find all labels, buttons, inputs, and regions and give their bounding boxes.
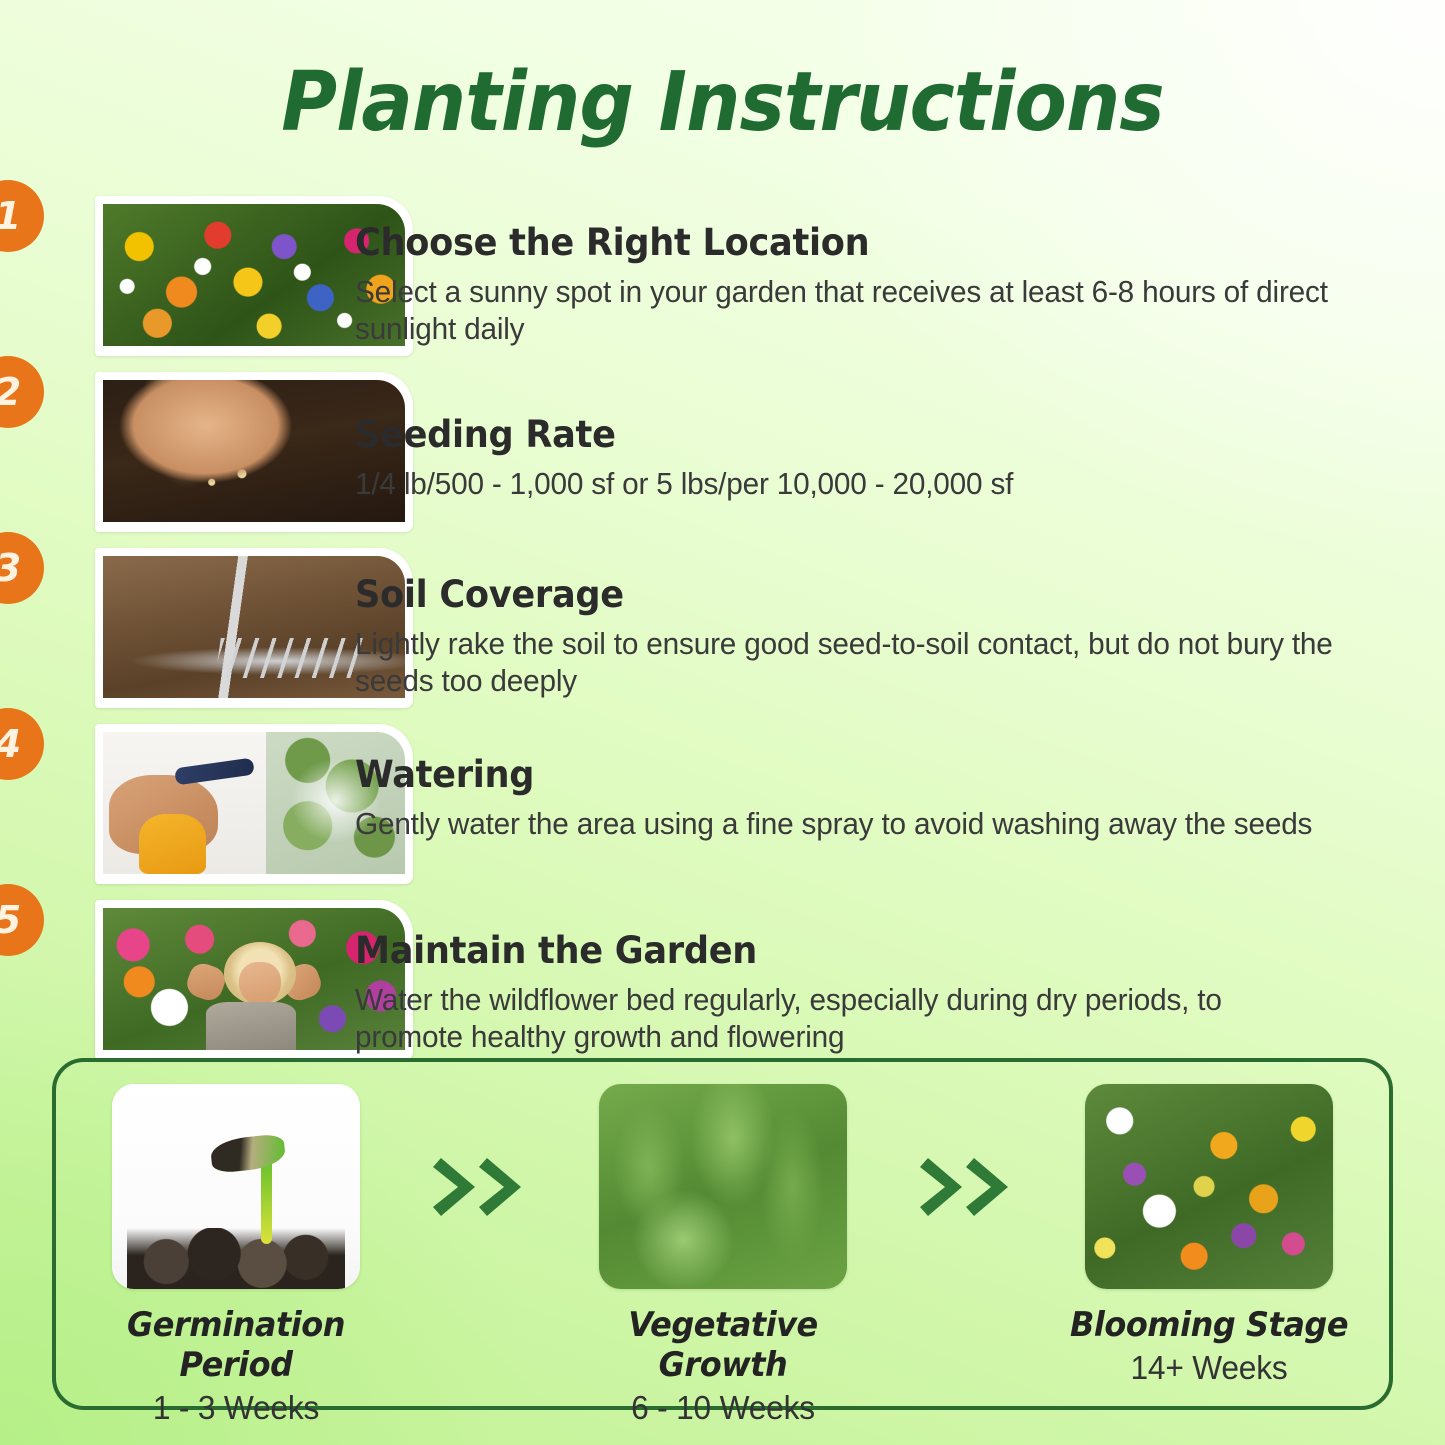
step-number-badge: 4 — [0, 708, 44, 780]
step-item: 5 Maintain the Garden Water the wildflow… — [0, 900, 1445, 1068]
step-description: Water the wildflower bed regularly, espe… — [355, 981, 1334, 1057]
step-thumbnail-wrap: 3 — [0, 548, 330, 708]
timeline-stage-value: 1 - 3 Weeks — [92, 1389, 380, 1427]
seedling-sprout-photo — [112, 1084, 360, 1289]
timeline-stage: Germination Period 1 - 3 Weeks — [86, 1084, 386, 1427]
timeline-stage: Blooming Stage 14+ Weeks — [1059, 1084, 1359, 1387]
timeline-stage-label: Blooming Stage — [1068, 1305, 1350, 1345]
step-text: Maintain the Garden Water the wildflower… — [330, 900, 1445, 1056]
step-number-badge: 1 — [0, 180, 44, 252]
step-item: 2 Seeding Rate 1/4 lb/500 - 1,000 sf or … — [0, 372, 1445, 540]
step-thumbnail-wrap: 4 — [0, 724, 330, 884]
green-foliage-photo — [599, 1084, 847, 1289]
step-thumbnail-wrap: 5 — [0, 900, 330, 1060]
timeline-stage-label: Germination Period — [95, 1305, 377, 1385]
step-title: Soil Coverage — [355, 574, 1324, 617]
timeline-stage-value: 14+ Weeks — [1065, 1349, 1353, 1387]
step-description: Gently water the area using a fine spray… — [355, 805, 1334, 843]
step-number-badge: 3 — [0, 532, 44, 604]
page-title: Planting Instructions — [51, 62, 1395, 144]
growth-timeline-panel: Germination Period 1 - 3 Weeks Vegetativ… — [52, 1058, 1393, 1410]
step-text: Soil Coverage Lightly rake the soil to e… — [330, 548, 1445, 700]
step-description: Lightly rake the soil to ensure good see… — [355, 625, 1334, 701]
double-chevron-right-icon — [386, 1084, 573, 1289]
step-description: 1/4 lb/500 - 1,000 sf or 5 lbs/per 10,00… — [355, 465, 1334, 503]
timeline-stage-value: 6 - 10 Weeks — [579, 1389, 867, 1427]
step-title: Seeding Rate — [355, 414, 1324, 457]
step-title: Choose the Right Location — [355, 222, 1324, 265]
step-item: 4 Watering Gently water the area using a… — [0, 724, 1445, 892]
step-title: Watering — [355, 754, 1324, 797]
wildflower-bouquet-photo — [1085, 1084, 1333, 1289]
step-text: Seeding Rate 1/4 lb/500 - 1,000 sf or 5 … — [330, 372, 1445, 502]
step-item: 1 Choose the Right Location Select a sun… — [0, 196, 1445, 364]
step-thumbnail-wrap: 2 — [0, 372, 330, 532]
step-number-badge: 5 — [0, 884, 44, 956]
step-title: Maintain the Garden — [355, 930, 1324, 973]
steps-list: 1 Choose the Right Location Select a sun… — [0, 196, 1445, 1068]
step-description: Select a sunny spot in your garden that … — [355, 273, 1334, 349]
step-item: 3 Soil Coverage Lightly rake the soil to… — [0, 548, 1445, 716]
double-chevron-right-icon — [873, 1084, 1060, 1289]
step-text: Choose the Right Location Select a sunny… — [330, 196, 1445, 348]
step-number-badge: 2 — [0, 356, 44, 428]
timeline-stage: Vegetative Growth 6 - 10 Weeks — [573, 1084, 873, 1427]
step-text: Watering Gently water the area using a f… — [330, 724, 1445, 842]
planting-instructions-page: Planting Instructions 1 Choose the Right… — [0, 0, 1445, 1445]
step-thumbnail-wrap: 1 — [0, 196, 330, 356]
timeline-stage-label: Vegetative Growth — [582, 1305, 864, 1385]
